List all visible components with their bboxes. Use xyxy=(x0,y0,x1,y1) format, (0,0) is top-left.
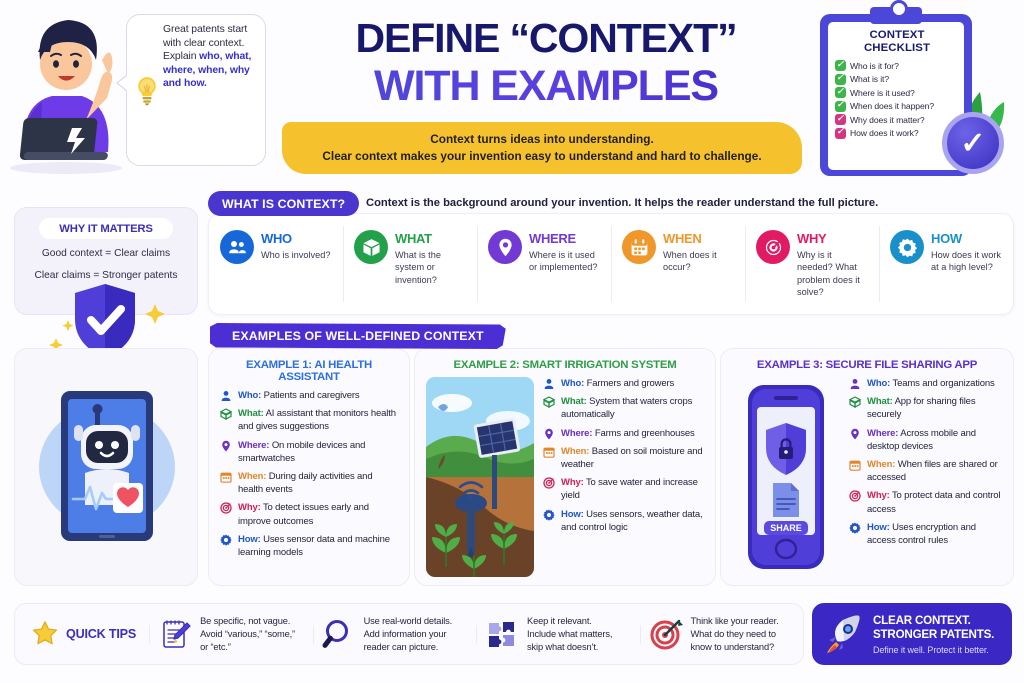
list-item-text: How: Uses sensors, weather data, and con… xyxy=(561,508,704,534)
target-icon xyxy=(220,501,233,527)
check-badge-icon: ✓ xyxy=(942,112,1004,174)
ai-health-assistant-art-panel xyxy=(14,348,198,586)
cta-banner[interactable]: CLEAR CONTEXT. STRONGER PATENTS. Define … xyxy=(812,603,1012,665)
ribbon-line-2: Clear context makes your invention easy … xyxy=(322,148,761,165)
context-column-when: WHEN When does it occur? xyxy=(611,214,745,314)
example-card-2: EXAMPLE 2: SMART IRRIGATION SYSTEM xyxy=(414,348,716,586)
example-list: Who: Farmers and growers What: System th… xyxy=(543,377,704,577)
list-item: Why: To save water and increase yield xyxy=(543,476,704,502)
context-title: WHAT xyxy=(395,231,468,246)
quick-tip-3: Keep it relevant. Include what matters, … xyxy=(476,615,639,654)
why-it-matters-chip: WHY IT MATTERS xyxy=(39,218,173,239)
checklist-items: Who is it for? What is it? Where is it u… xyxy=(835,60,959,139)
context-title: WHERE xyxy=(529,231,602,246)
people-icon xyxy=(220,230,254,264)
person-with-laptop-illustration xyxy=(6,2,126,177)
checklist-item[interactable]: Why does it matter? xyxy=(835,114,959,125)
pin-icon xyxy=(849,427,862,453)
context-dimensions-panel: WHO Who is involved? WHAT What is the sy… xyxy=(208,213,1014,315)
example-list: Who: Patients and caregivers What: AI as… xyxy=(220,389,398,559)
cta-line-2: STRONGER PATENTS. xyxy=(873,628,994,642)
box-icon xyxy=(354,230,388,264)
quick-tip-4: Think like your reader. What do they nee… xyxy=(640,615,803,654)
list-item: Where: Farms and greenhouses xyxy=(543,427,704,440)
cta-line-1: CLEAR CONTEXT. xyxy=(873,614,994,628)
context-desc: Who is involved? xyxy=(261,249,330,261)
context-title: WHY xyxy=(797,231,870,246)
checkbox-icon[interactable] xyxy=(835,60,846,71)
magnifier-icon xyxy=(322,617,356,651)
subtitle-ribbon: Context turns ideas into understanding. … xyxy=(282,122,802,174)
checklist-item[interactable]: When does it happen? xyxy=(835,101,959,112)
secure-file-sharing-phone-illustration: SHARE xyxy=(732,377,840,577)
infographic-page: Great patents start with clear context. … xyxy=(0,0,1024,683)
context-desc: What is the system or invention? xyxy=(395,249,468,286)
target-icon xyxy=(756,230,790,264)
list-item: When: Based on soil moisture and weather xyxy=(543,445,704,471)
quick-tips-label: QUICK TIPS xyxy=(66,627,136,641)
speech-bubble-text: Great patents start with clear context. … xyxy=(163,23,257,157)
box-icon xyxy=(220,407,233,433)
context-desc: Why is it needed? What problem does it s… xyxy=(797,249,870,299)
gear-icon xyxy=(849,521,862,547)
list-item: Who: Teams and organizations xyxy=(849,377,1002,390)
speech-bubble: Great patents start with clear context. … xyxy=(126,14,266,166)
examples-banner: EXAMPLES OF WELL-DEFINED CONTEXT xyxy=(210,323,506,349)
checklist-item[interactable]: How does it work? xyxy=(835,128,959,139)
puzzle-icon xyxy=(485,617,519,651)
ai-health-tablet-illustration xyxy=(15,349,199,587)
example-card-3: EXAMPLE 3: SECURE FILE SHARING APP xyxy=(720,348,1014,586)
ribbon-line-1: Context turns ideas into understanding. xyxy=(430,131,654,148)
target-icon xyxy=(543,476,556,502)
list-item-text: Who: Farmers and growers xyxy=(561,377,674,390)
example-heading: EXAMPLE 3: SECURE FILE SHARING APP xyxy=(732,359,1002,371)
gear-icon xyxy=(220,533,233,559)
checkbox-icon[interactable] xyxy=(835,87,846,98)
example-card-1: EXAMPLE 1: AI HEALTH ASSISTANT Who: Pati… xyxy=(208,348,410,586)
list-item: Who: Patients and caregivers xyxy=(220,389,398,402)
quick-tip-1: Be specific, not vague. Avoid “various,”… xyxy=(149,615,312,654)
checkbox-icon[interactable] xyxy=(835,74,846,85)
smart-irrigation-illustration xyxy=(426,377,534,577)
context-column-who: WHO Who is involved? xyxy=(209,214,343,314)
checklist-item[interactable]: What is it? xyxy=(835,74,959,85)
context-column-how: HOW How does it work at a high level? xyxy=(879,214,1013,314)
person-icon xyxy=(543,377,556,390)
gear-icon xyxy=(543,508,556,534)
checklist-item[interactable]: Where is it used? xyxy=(835,87,959,98)
list-item: Where: On mobile devices and smartwatche… xyxy=(220,439,398,465)
list-item-text: What: System that waters crops automatic… xyxy=(561,395,704,421)
calendar-icon xyxy=(849,458,862,484)
why-line-2: Clear claims = Stronger patents xyxy=(15,268,197,283)
list-item: When: When files are shared or accessed xyxy=(849,458,1002,484)
calendar-icon xyxy=(622,230,656,264)
list-item-text: When: Based on soil moisture and weather xyxy=(561,445,704,471)
quick-tip-text: Be specific, not vague. Avoid “various,”… xyxy=(200,615,295,654)
target-icon xyxy=(649,617,683,651)
list-item-text: When: During daily activities and health… xyxy=(238,470,398,496)
example-list: Who: Teams and organizations What: App f… xyxy=(849,377,1002,577)
lightbulb-icon xyxy=(135,23,159,157)
quick-tip-2: Use real-world details. Add information … xyxy=(313,615,476,654)
pin-icon xyxy=(488,230,522,264)
list-item: How: Uses sensors, weather data, and con… xyxy=(543,508,704,534)
context-desc: Where is it used or implemented? xyxy=(529,249,602,274)
calendar-icon xyxy=(543,445,556,471)
context-title: WHEN xyxy=(663,231,736,246)
list-item-text: Why: To detect issues early and improve … xyxy=(238,501,398,527)
context-column-where: WHERE Where is it used or implemented? xyxy=(477,214,611,314)
list-item: How: Uses sensor data and machine learni… xyxy=(220,533,398,559)
target-icon xyxy=(849,489,862,515)
box-icon xyxy=(543,395,556,421)
pin-icon xyxy=(220,439,233,465)
pin-icon xyxy=(543,427,556,440)
context-column-what: WHAT What is the system or invention? xyxy=(343,214,477,314)
context-desc: How does it work at a high level? xyxy=(931,249,1004,274)
notepad-pencil-icon xyxy=(158,617,192,651)
list-item-text: What: App for sharing files securely xyxy=(867,395,1002,421)
what-is-context-subtitle: Context is the background around your in… xyxy=(366,197,878,209)
checkbox-icon[interactable] xyxy=(835,101,846,112)
list-item-text: Where: Across mobile and desktop devices xyxy=(867,427,1002,453)
list-item: Why: To detect issues early and improve … xyxy=(220,501,398,527)
rocket-icon xyxy=(823,613,865,655)
list-item-text: Where: On mobile devices and smartwatche… xyxy=(238,439,398,465)
what-is-context-chip: WHAT IS CONTEXT? xyxy=(208,191,359,216)
checkbox-icon[interactable] xyxy=(835,114,846,125)
context-title: HOW xyxy=(931,231,1004,246)
list-item: What: System that waters crops automatic… xyxy=(543,395,704,421)
context-checklist-illustration: CONTEXT CHECKLIST Who is it for? What is… xyxy=(812,4,1012,184)
list-item-text: How: Uses encryption and access control … xyxy=(867,521,1002,547)
list-item-text: Why: To save water and increase yield xyxy=(561,476,704,502)
title-line-1: DEFINE “CONTEXT” xyxy=(286,14,806,62)
list-item-text: When: When files are shared or accessed xyxy=(867,458,1002,484)
title-line-2: WITH EXAMPLES xyxy=(286,62,806,110)
checkbox-icon[interactable] xyxy=(835,128,846,139)
svg-text:SHARE: SHARE xyxy=(770,523,802,533)
quick-tip-text: Keep it relevant. Include what matters, … xyxy=(527,615,612,654)
page-title: DEFINE “CONTEXT” WITH EXAMPLES xyxy=(286,14,806,110)
list-item-text: Who: Teams and organizations xyxy=(867,377,995,390)
list-item: Who: Farmers and growers xyxy=(543,377,704,390)
list-item: When: During daily activities and health… xyxy=(220,470,398,496)
checklist-item[interactable]: Who is it for? xyxy=(835,60,959,71)
calendar-icon xyxy=(220,470,233,496)
list-item: How: Uses encryption and access control … xyxy=(849,521,1002,547)
quick-tips-bar: QUICK TIPS Be specific, not vague. Avoid… xyxy=(14,603,804,665)
star-icon xyxy=(31,620,59,648)
context-title: WHO xyxy=(261,231,330,246)
list-item: What: AI assistant that monitors health … xyxy=(220,407,398,433)
context-column-why: WHY Why is it needed? What problem does … xyxy=(745,214,879,314)
list-item: Why: To protect data and control access xyxy=(849,489,1002,515)
list-item-text: Who: Patients and caregivers xyxy=(238,389,359,402)
cta-subtext: Define it well. Protect it better. xyxy=(873,645,994,655)
person-icon xyxy=(220,389,233,402)
list-item-text: Why: To protect data and control access xyxy=(867,489,1002,515)
example-heading: EXAMPLE 2: SMART IRRIGATION SYSTEM xyxy=(426,359,704,371)
list-item: What: App for sharing files securely xyxy=(849,395,1002,421)
checklist-title: CONTEXT CHECKLIST xyxy=(835,29,959,55)
context-desc: When does it occur? xyxy=(663,249,736,274)
list-item: Where: Across mobile and desktop devices xyxy=(849,427,1002,453)
quick-tips-brand: QUICK TIPS xyxy=(15,620,149,648)
list-item-text: Where: Farms and greenhouses xyxy=(561,427,695,440)
cta-text: CLEAR CONTEXT. STRONGER PATENTS. Define … xyxy=(873,614,994,655)
box-icon xyxy=(849,395,862,421)
list-item-text: What: AI assistant that monitors health … xyxy=(238,407,398,433)
example-heading: EXAMPLE 1: AI HEALTH ASSISTANT xyxy=(220,359,398,383)
person-icon xyxy=(849,377,862,390)
clipboard-clamp xyxy=(870,7,922,24)
quick-tip-text: Think like your reader. What do they nee… xyxy=(691,615,779,654)
quick-tip-text: Use real-world details. Add information … xyxy=(364,615,453,654)
why-line-1: Good context = Clear claims xyxy=(15,246,197,261)
list-item-text: How: Uses sensor data and machine learni… xyxy=(238,533,398,559)
gear-icon xyxy=(890,230,924,264)
